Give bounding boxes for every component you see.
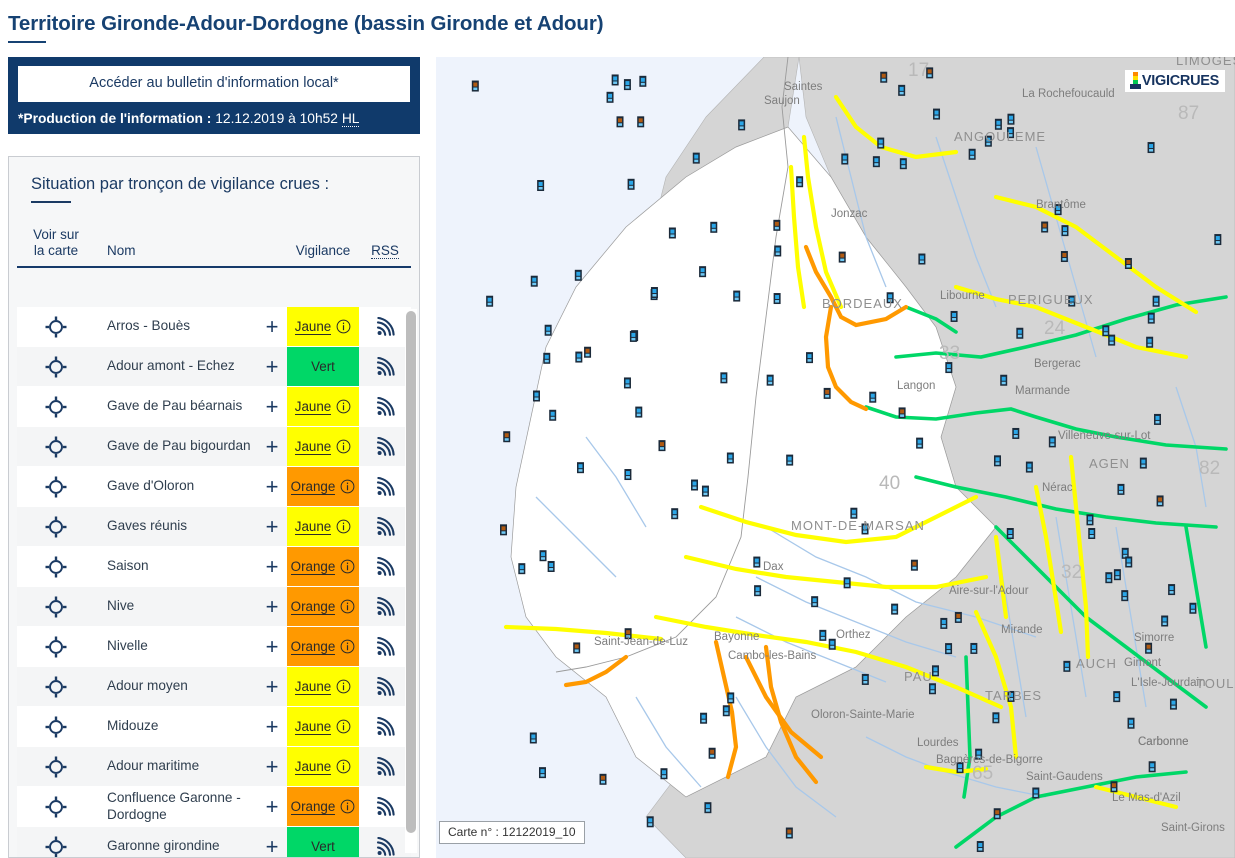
map-station-marker[interactable]: [1214, 234, 1221, 245]
table-row[interactable]: Saison+Orange: [17, 547, 411, 587]
page-title: Territoire Gironde-Adour-Dordogne (bassi…: [8, 12, 603, 36]
map-station-marker[interactable]: [1102, 325, 1109, 336]
map-station-marker[interactable]: [727, 452, 734, 463]
map-station-marker[interactable]: [819, 630, 826, 641]
map-station-marker[interactable]: [1148, 142, 1155, 153]
map-station-marker[interactable]: [1007, 114, 1014, 125]
expand-row-button[interactable]: +: [257, 507, 287, 546]
rss-icon: [375, 797, 395, 817]
map-station-marker[interactable]: [1114, 569, 1121, 580]
vigilance-label[interactable]: Orange: [291, 559, 336, 575]
rss-icon: [375, 357, 395, 377]
bulletin-local-button[interactable]: Accéder au bulletin d'information local*: [18, 66, 410, 102]
vigilance-panel: Situation par tronçon de vigilance crues…: [8, 156, 420, 858]
vigilance-content: Jaune: [295, 399, 351, 415]
column-header-vigilance: Vigilance: [287, 243, 359, 259]
vigilance-cell[interactable]: Orange: [287, 547, 359, 586]
map-station-marker[interactable]: [932, 665, 939, 676]
map-svg: SaintesSaujonJonzacANGOULEMELa Rochefouc…: [436, 57, 1235, 858]
map-city-label: Saujon: [764, 95, 800, 107]
map-station-marker[interactable]: [977, 841, 984, 852]
map-station-marker[interactable]: [916, 438, 923, 449]
map-station-marker[interactable]: [1168, 584, 1175, 595]
info-icon[interactable]: [340, 639, 355, 654]
crosshair-icon: [45, 676, 67, 698]
map-station-marker[interactable]: [1108, 335, 1115, 346]
map-station-marker[interactable]: [549, 410, 556, 421]
vigilance-label[interactable]: Jaune: [295, 679, 331, 695]
map-station-marker[interactable]: [669, 227, 676, 238]
map-station-marker[interactable]: [628, 179, 635, 190]
vigilance-cell[interactable]: Jaune: [287, 307, 359, 346]
vigilance-label[interactable]: Orange: [291, 799, 336, 815]
info-icon[interactable]: [336, 399, 351, 414]
column-header-rss: RSS: [359, 243, 411, 259]
map-station-marker[interactable]: [1063, 661, 1070, 672]
map-station-marker[interactable]: [573, 642, 580, 653]
rss-link[interactable]: [359, 547, 411, 586]
vigilance-cell[interactable]: Jaune: [287, 667, 359, 706]
vigilance-cell[interactable]: Orange: [287, 587, 359, 626]
map-station-marker[interactable]: [539, 767, 546, 778]
troncon-name: Gaves réunis: [95, 507, 257, 546]
map-city-label: AUCH: [1076, 656, 1117, 671]
map-station-marker[interactable]: [699, 266, 706, 277]
map-station-marker[interactable]: [900, 158, 907, 169]
map-station-marker[interactable]: [1032, 788, 1039, 799]
map-station-marker[interactable]: [1146, 337, 1153, 348]
rss-icon: [375, 677, 395, 697]
troncon-name: Gave de Pau bigourdan: [95, 427, 257, 466]
map-station-marker[interactable]: [651, 287, 658, 298]
map-station-marker[interactable]: [898, 85, 905, 96]
map-station-marker[interactable]: [700, 713, 707, 724]
vigilance-label[interactable]: Orange: [291, 479, 336, 495]
rss-icon: [375, 757, 395, 777]
map-station-marker[interactable]: [1157, 495, 1164, 506]
table-row[interactable]: Garonne girondine+Vert: [17, 827, 411, 857]
map-station-marker[interactable]: [1170, 699, 1177, 710]
info-icon[interactable]: [336, 319, 351, 334]
map-department-number: 65: [972, 763, 993, 784]
map-station-marker[interactable]: [1041, 222, 1048, 233]
troncon-name: Confluence Garonne - Dordogne: [95, 787, 257, 826]
locate-on-map-button[interactable]: [17, 747, 95, 786]
map-station-marker[interactable]: [531, 276, 538, 287]
vigicrues-logo-text: VIGICRUES: [1142, 73, 1219, 89]
map-city-label: PAU: [904, 669, 933, 684]
rss-link[interactable]: [359, 707, 411, 746]
map-city-label: Libourne: [940, 290, 985, 302]
info-icon[interactable]: [340, 479, 355, 494]
table-row[interactable]: Nive+Orange: [17, 587, 411, 627]
troncon-name: Adour moyen: [95, 667, 257, 706]
locate-on-map-button[interactable]: [17, 627, 95, 666]
vigilance-cell[interactable]: Jaune: [287, 707, 359, 746]
map-station-marker[interactable]: [720, 372, 727, 383]
map-station-marker[interactable]: [1113, 691, 1120, 702]
map-department-number: 33: [939, 343, 960, 364]
info-banner: Accéder au bulletin d'information local*…: [8, 57, 420, 134]
map-station-marker[interactable]: [503, 431, 510, 442]
map-city-label: Mirande: [1001, 624, 1043, 636]
map-station-marker[interactable]: [786, 828, 793, 839]
map-station-marker[interactable]: [548, 561, 555, 572]
map-station-marker[interactable]: [624, 469, 631, 480]
map-department-number: 17: [908, 60, 929, 81]
expand-row-button[interactable]: +: [257, 347, 287, 386]
rss-link[interactable]: [359, 507, 411, 546]
expand-row-button[interactable]: +: [257, 787, 287, 826]
map-station-marker[interactable]: [862, 674, 869, 685]
crosshair-icon: [45, 796, 67, 818]
locate-on-map-button[interactable]: [17, 827, 95, 857]
table-row[interactable]: Gave d'Oloron+Orange: [17, 467, 411, 507]
rss-link[interactable]: [359, 467, 411, 506]
rss-link[interactable]: [359, 747, 411, 786]
map-station-marker[interactable]: [1121, 590, 1128, 601]
locate-on-map-button[interactable]: [17, 387, 95, 426]
locate-on-map-button[interactable]: [17, 507, 95, 546]
map-station-marker[interactable]: [1049, 436, 1056, 447]
map-city-label: MONT-DE-MARSAN: [791, 518, 925, 533]
expand-row-button[interactable]: +: [257, 627, 287, 666]
map-station-marker[interactable]: [929, 683, 936, 694]
column-header-map-line2: la carte: [17, 243, 95, 259]
map-station-marker[interactable]: [575, 270, 582, 281]
expand-row-button[interactable]: +: [257, 307, 287, 346]
map-station-marker[interactable]: [637, 116, 644, 127]
map-station-marker[interactable]: [1189, 603, 1196, 614]
map-station-marker[interactable]: [1125, 258, 1132, 269]
expand-row-button[interactable]: +: [257, 547, 287, 586]
map-station-marker[interactable]: [1140, 458, 1147, 469]
map-station-marker[interactable]: [1086, 514, 1093, 525]
crosshair-icon: [45, 716, 67, 738]
map-station-marker[interactable]: [727, 692, 734, 703]
expand-row-button[interactable]: +: [257, 667, 287, 706]
map-city-label: Gimont: [1124, 657, 1162, 669]
vigilance-content: Jaune: [295, 519, 351, 535]
map-station-marker[interactable]: [767, 375, 774, 386]
vigilance-label[interactable]: Jaune: [295, 319, 331, 335]
map-station-marker[interactable]: [647, 816, 654, 827]
expand-row-button[interactable]: +: [257, 467, 287, 506]
map-station-marker[interactable]: [1110, 781, 1117, 792]
vigilance-cell[interactable]: Jaune: [287, 747, 359, 786]
map-station-marker[interactable]: [1061, 251, 1068, 262]
rss-icon: [375, 477, 395, 497]
map-station-marker[interactable]: [753, 557, 760, 568]
map-station-marker[interactable]: [1125, 556, 1132, 567]
production-info: *Production de l'information : 12.12.201…: [18, 110, 410, 127]
map-station-marker[interactable]: [824, 388, 831, 399]
troncon-name: Midouze: [95, 707, 257, 746]
expand-row-button[interactable]: +: [257, 827, 287, 857]
map-station-marker[interactable]: [543, 353, 550, 364]
info-icon[interactable]: [336, 679, 351, 694]
map-city-label: Le Mas-d'Azil: [1112, 792, 1181, 804]
table-row[interactable]: Midouze+Jaune: [17, 707, 411, 747]
map-station-marker[interactable]: [472, 81, 479, 92]
vigilance-label[interactable]: Jaune: [295, 719, 331, 735]
rss-link[interactable]: [359, 827, 411, 857]
table-row[interactable]: Gave de Pau béarnais+Jaune: [17, 387, 411, 427]
info-icon[interactable]: [336, 519, 351, 534]
rss-link[interactable]: [359, 627, 411, 666]
vigilance-cell[interactable]: Jaune: [287, 387, 359, 426]
map-station-marker[interactable]: [486, 296, 493, 307]
map-station-marker[interactable]: [537, 180, 544, 191]
crosshair-icon: [45, 356, 67, 378]
map-station-marker[interactable]: [1007, 528, 1014, 539]
expand-row-button[interactable]: +: [257, 747, 287, 786]
map-station-marker[interactable]: [1145, 643, 1152, 654]
map-station-marker[interactable]: [1149, 761, 1156, 772]
vigilance-label[interactable]: Jaune: [295, 519, 331, 535]
map-city-label: Simorre: [1134, 632, 1174, 644]
map-station-marker[interactable]: [733, 291, 740, 302]
vigilance-cell[interactable]: Orange: [287, 467, 359, 506]
vigilance-content: Vert: [311, 359, 335, 374]
map-station-marker[interactable]: [533, 390, 540, 401]
map-station-marker[interactable]: [617, 116, 624, 127]
locate-on-map-button[interactable]: [17, 467, 95, 506]
table-row[interactable]: Gave de Pau bigourdan+Jaune: [17, 427, 411, 467]
map-station-marker[interactable]: [951, 311, 958, 322]
map-city-label: L'Isle-Jourdain: [1131, 677, 1205, 689]
map-station-marker[interactable]: [933, 109, 940, 120]
info-icon[interactable]: [336, 759, 351, 774]
map-city-label: AGEN: [1089, 456, 1130, 471]
left-column: Accéder au bulletin d'information local*…: [8, 57, 420, 858]
map-station-marker[interactable]: [994, 455, 1001, 466]
map-station-marker[interactable]: [530, 732, 537, 743]
crosshair-icon: [45, 316, 67, 338]
troncon-name: Arros - Bouès: [95, 307, 257, 346]
map-station-marker[interactable]: [577, 462, 584, 473]
map-station-marker[interactable]: [992, 712, 999, 723]
map-station-marker[interactable]: [1105, 572, 1112, 583]
map-station-marker[interactable]: [607, 92, 614, 103]
map-station-marker[interactable]: [839, 252, 846, 263]
rss-link[interactable]: [359, 587, 411, 626]
vigilance-cell[interactable]: Orange: [287, 627, 359, 666]
map-station-marker[interactable]: [500, 524, 507, 535]
map-station-marker[interactable]: [702, 486, 709, 497]
map-station-marker[interactable]: [796, 176, 803, 187]
map-station-marker[interactable]: [600, 774, 607, 785]
crosshair-icon: [45, 396, 67, 418]
map-station-marker[interactable]: [658, 440, 665, 451]
info-icon[interactable]: [336, 439, 351, 454]
column-header-map: Voir sur la carte: [17, 227, 95, 259]
map-station-marker[interactable]: [671, 508, 678, 519]
map-station-marker[interactable]: [1161, 615, 1168, 626]
map-station-marker[interactable]: [1117, 484, 1124, 495]
info-icon[interactable]: [340, 559, 355, 574]
expand-row-button[interactable]: +: [257, 427, 287, 466]
panel-heading: Situation par tronçon de vigilance crues…: [9, 157, 419, 194]
title-underline: [8, 41, 46, 43]
vigilance-content: Jaune: [295, 679, 351, 695]
crosshair-icon: [45, 516, 67, 538]
map-station-marker[interactable]: [660, 768, 667, 779]
map-city-label: Langon: [897, 380, 935, 392]
vigilance-content: Vert: [311, 839, 335, 854]
map-station-marker[interactable]: [612, 74, 619, 85]
locate-on-map-button[interactable]: [17, 547, 95, 586]
vigilance-label[interactable]: Jaune: [295, 439, 331, 455]
map-station-marker[interactable]: [873, 156, 880, 167]
map-station-marker[interactable]: [1012, 428, 1019, 439]
table-row[interactable]: Adour amont - Echez+Vert: [17, 347, 411, 387]
table-row[interactable]: Gaves réunis+Jaune: [17, 507, 411, 547]
map-station-marker[interactable]: [940, 618, 947, 629]
map-city-label: ANGOULEME: [954, 129, 1046, 144]
expand-row-button[interactable]: +: [257, 587, 287, 626]
locate-on-map-button[interactable]: [17, 667, 95, 706]
locate-on-map-button[interactable]: [17, 587, 95, 626]
troncon-name: Garonne girondine: [95, 827, 257, 857]
map-station-marker[interactable]: [584, 347, 591, 358]
map-station-marker[interactable]: [704, 802, 711, 813]
vigicrues-logo: VIGICRUES: [1125, 70, 1225, 92]
vigilance-label[interactable]: Orange: [291, 599, 336, 615]
map-department-number: 40: [879, 473, 900, 494]
locate-on-map-button[interactable]: [17, 347, 95, 386]
map-station-marker[interactable]: [630, 331, 637, 342]
map-station-marker[interactable]: [955, 612, 962, 623]
map-station-marker[interactable]: [738, 119, 745, 130]
map-station-marker[interactable]: [829, 639, 836, 650]
map-station-marker[interactable]: [1000, 375, 1007, 386]
info-icon[interactable]: [340, 599, 355, 614]
map-station-marker[interactable]: [693, 153, 700, 164]
map-station-marker[interactable]: [786, 455, 793, 466]
map-station-marker[interactable]: [774, 293, 781, 304]
table-row[interactable]: Nivelle+Orange: [17, 627, 411, 667]
table-row[interactable]: Arros - Bouès+Jaune: [17, 307, 411, 347]
map-department-number: 32: [1061, 562, 1082, 583]
locate-on-map-button[interactable]: [17, 707, 95, 746]
panel-scrollbar[interactable]: [405, 309, 417, 853]
map-station-marker[interactable]: [691, 480, 698, 491]
map-station-marker[interactable]: [1154, 414, 1161, 425]
map-city-label: Saintes: [784, 81, 823, 93]
vigilance-label: Vert: [311, 839, 335, 854]
expand-row-button[interactable]: +: [257, 707, 287, 746]
vigilance-content: Orange: [291, 479, 356, 495]
map-station-marker[interactable]: [811, 596, 818, 607]
map-station-marker[interactable]: [994, 808, 1001, 819]
table-row[interactable]: Adour moyen+Jaune: [17, 667, 411, 707]
map-station-marker[interactable]: [1026, 462, 1033, 473]
vigilance-label[interactable]: Jaune: [295, 759, 331, 775]
map-station-marker[interactable]: [806, 352, 813, 363]
map-station-marker[interactable]: [969, 149, 976, 160]
map-station-marker[interactable]: [545, 325, 552, 336]
map-station-marker[interactable]: [970, 643, 977, 654]
vigilance-cell[interactable]: Jaune: [287, 507, 359, 546]
map-city-label: Lourdes: [917, 737, 959, 749]
map-city-label: Carbonne: [1138, 736, 1189, 748]
vigilance-label[interactable]: Orange: [291, 639, 336, 655]
map-city-label: TOULOUSE: [1196, 676, 1235, 691]
vigilance-cell[interactable]: Orange: [287, 787, 359, 826]
scrollbar-thumb[interactable]: [406, 311, 416, 833]
map-station-marker[interactable]: [1016, 328, 1023, 339]
map-station-marker[interactable]: [624, 377, 631, 388]
map-station-marker[interactable]: [518, 563, 525, 574]
troncon-name: Adour amont - Echez: [95, 347, 257, 386]
map-station-marker[interactable]: [773, 220, 780, 231]
map-station-marker[interactable]: [774, 245, 781, 256]
locate-on-map-button[interactable]: [17, 787, 95, 826]
map-station-marker[interactable]: [1148, 313, 1155, 324]
rss-link[interactable]: [359, 667, 411, 706]
map-station-marker[interactable]: [1153, 296, 1160, 307]
vigilance-label[interactable]: Jaune: [295, 399, 331, 415]
expand-row-button[interactable]: +: [257, 387, 287, 426]
map-station-marker[interactable]: [575, 352, 582, 363]
table-row[interactable]: Adour maritime+Jaune: [17, 747, 411, 787]
map-station-marker[interactable]: [899, 407, 906, 418]
map-station-marker[interactable]: [877, 138, 884, 149]
info-icon[interactable]: [340, 799, 355, 814]
vigilance-cell[interactable]: Jaune: [287, 427, 359, 466]
rss-link[interactable]: [359, 307, 411, 346]
vigilance-map[interactable]: SaintesSaujonJonzacANGOULEMELa Rochefouc…: [436, 57, 1235, 858]
locate-on-map-button[interactable]: [17, 307, 95, 346]
rss-link[interactable]: [359, 787, 411, 826]
rss-link[interactable]: [359, 347, 411, 386]
map-city-label: Dax: [763, 561, 784, 573]
map-station-marker[interactable]: [869, 392, 876, 403]
map-station-marker[interactable]: [945, 643, 952, 654]
map-station-marker[interactable]: [891, 604, 898, 615]
info-icon[interactable]: [336, 719, 351, 734]
map-station-marker[interactable]: [1061, 225, 1068, 236]
production-label: *Production de l'information :: [18, 111, 211, 126]
map-station-marker[interactable]: [918, 254, 925, 265]
map-station-marker[interactable]: [1128, 718, 1135, 729]
map-station-marker[interactable]: [1088, 528, 1095, 539]
map-station-marker[interactable]: [754, 585, 761, 596]
table-row[interactable]: Confluence Garonne - Dordogne+Orange: [17, 787, 411, 827]
map-station-marker[interactable]: [709, 748, 716, 759]
map-station-marker[interactable]: [639, 76, 646, 87]
map-city-label: Saint-Gaudens: [1026, 771, 1103, 783]
map-station-marker[interactable]: [710, 222, 717, 233]
panel-heading-underline: [31, 201, 71, 203]
crosshair-icon: [45, 756, 67, 778]
map-station-marker[interactable]: [540, 550, 547, 561]
troncon-name: Saison: [95, 547, 257, 586]
rss-link[interactable]: [359, 427, 411, 466]
locate-on-map-button[interactable]: [17, 427, 95, 466]
map-station-marker[interactable]: [635, 407, 642, 418]
map-station-marker[interactable]: [880, 72, 887, 83]
map-station-marker[interactable]: [841, 154, 848, 165]
map-station-marker[interactable]: [624, 79, 631, 90]
map-station-marker[interactable]: [844, 577, 851, 588]
map-city-label: Brantôme: [1036, 199, 1086, 211]
map-station-marker[interactable]: [911, 560, 918, 571]
map-station-marker[interactable]: [723, 705, 730, 716]
rss-link[interactable]: [359, 387, 411, 426]
rss-icon: [375, 717, 395, 737]
